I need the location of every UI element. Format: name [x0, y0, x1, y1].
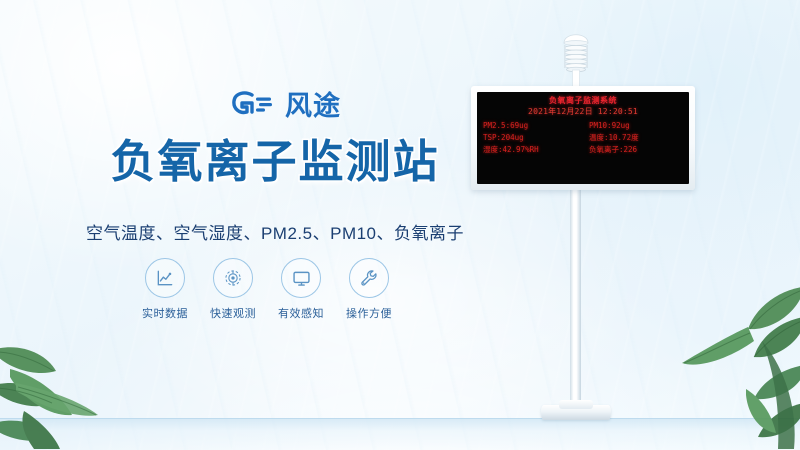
- feature-item-realtime-data[interactable]: 实时数据: [136, 258, 194, 321]
- led-readings-grid: PM2.5:69ug PM10:92ug TSP:204ug 温度:10.72度…: [483, 120, 683, 156]
- brand-name: 风途: [285, 93, 341, 120]
- led-display-panel[interactable]: 负氧离子监测系统 2021年12月22日 12:20:51 PM2.5:69ug…: [471, 86, 695, 190]
- feature-label: 操作方便: [340, 305, 398, 321]
- reading-humidity: 湿度:42.97%RH: [483, 144, 583, 155]
- feature-item-fast-observation[interactable]: 快速观测: [204, 258, 262, 321]
- plant-leaves-icon: [674, 281, 800, 450]
- reading-negative-oxygen-ions: 负氧离子:226: [583, 144, 683, 155]
- plant-leaves-icon: [0, 319, 134, 450]
- feature-label: 快速观测: [204, 305, 262, 321]
- feature-item-effective-sensing[interactable]: 有效感知: [272, 258, 330, 321]
- wrench-icon: [349, 258, 389, 298]
- reading-temperature: 温度:10.72度: [583, 132, 683, 143]
- monitor-icon: [281, 258, 321, 298]
- reading-tsp: TSP:204ug: [483, 132, 583, 143]
- page-title: 负氧离子监测站: [0, 138, 550, 187]
- led-screen: 负氧离子监测系统 2021年12月22日 12:20:51 PM2.5:69ug…: [477, 92, 689, 184]
- brand-lockup: 风途: [232, 90, 341, 123]
- reading-pm25: PM2.5:69ug: [483, 120, 583, 131]
- led-screen-datetime: 2021年12月22日 12:20:51: [483, 107, 683, 118]
- feature-label: 有效感知: [272, 305, 330, 321]
- feature-list: 实时数据 快速观测 有效感知: [136, 258, 398, 321]
- page-subtitle: 空气温度、空气湿度、PM2.5、PM10、负氧离子: [0, 219, 550, 244]
- fengtu-wind-logo-icon: [232, 90, 276, 123]
- reading-pm10: PM10:92ug: [583, 120, 683, 131]
- line-chart-icon: [145, 258, 185, 298]
- feature-item-easy-operation[interactable]: 操作方便: [340, 258, 398, 321]
- feature-label: 实时数据: [136, 305, 194, 321]
- led-screen-title: 负氧离子监测系统: [483, 96, 683, 106]
- promo-banner: 风途 负氧离子监测站 空气温度、空气湿度、PM2.5、PM10、负氧离子 实时数…: [0, 0, 800, 450]
- radar-scan-icon: [213, 258, 253, 298]
